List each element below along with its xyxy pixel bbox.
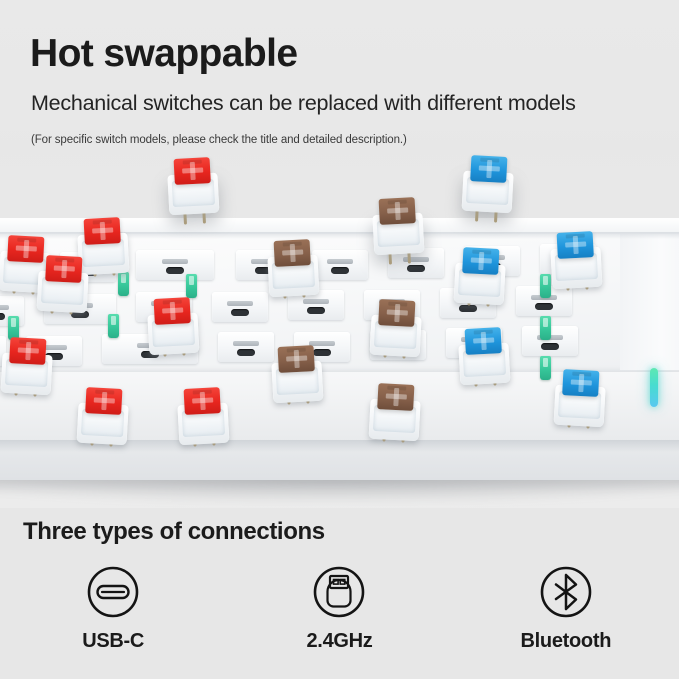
switch-stem <box>377 383 414 411</box>
connection-item-usb-c[interactable]: USB-C <box>0 566 226 651</box>
page-title: Hot swappable <box>30 34 297 73</box>
switch-stem-cross <box>54 266 75 272</box>
switch-stem-cross <box>182 167 203 173</box>
switch-stem-cross <box>471 258 492 264</box>
switch-socket <box>218 332 274 362</box>
key-switch-brown <box>372 197 425 256</box>
connections-section: Three types of connections USB-C <box>0 508 679 679</box>
page-subtitle: Mechanical switches can be replaced with… <box>31 93 576 115</box>
switch-stem-cross <box>571 380 592 386</box>
switch-stem-cross <box>162 307 183 313</box>
socket-bar-slot <box>327 259 353 264</box>
socket-led-slot <box>166 267 184 274</box>
connection-label: USB-C <box>82 631 144 651</box>
switch-stem <box>462 247 499 275</box>
connection-item-24ghz[interactable]: 2.4GHz <box>226 566 452 651</box>
switch-stem <box>184 387 221 415</box>
switch-stem-cross <box>565 241 586 247</box>
socket-led-slot <box>231 309 249 316</box>
key-switch-red <box>147 297 200 356</box>
switch-socket <box>212 292 268 322</box>
switch-stem <box>84 217 121 245</box>
switch-stem <box>174 157 211 185</box>
switch-stem-cross <box>473 337 494 343</box>
socket-bar-slot <box>303 299 329 304</box>
switch-stem-cross <box>18 348 39 354</box>
key-switch-brown <box>267 239 320 298</box>
switch-stem <box>470 155 507 183</box>
connection-item-bluetooth[interactable]: Bluetooth <box>453 566 679 651</box>
stabilizer-insert <box>186 274 197 298</box>
switch-stem-cross <box>386 394 407 400</box>
stabilizer-insert <box>540 316 551 340</box>
switch-stem <box>378 299 415 327</box>
key-switch-red <box>37 255 90 314</box>
switch-stem-cross <box>16 246 37 252</box>
connections-title: Three types of connections <box>23 520 325 544</box>
socket-bar-slot <box>162 259 188 264</box>
switch-stem-cross <box>286 355 307 361</box>
socket-led-slot <box>535 303 553 310</box>
key-switch-red <box>177 387 230 446</box>
header-text-block: Hot swappable Mechanical switches can be… <box>0 0 679 152</box>
key-switch-brown <box>271 345 324 404</box>
switch-socket <box>312 250 368 280</box>
usb-c-icon <box>87 566 139 618</box>
socket-led-slot <box>0 313 5 320</box>
product-photo <box>0 140 679 515</box>
socket-bar-slot <box>227 301 253 306</box>
switch-stem <box>379 197 416 225</box>
key-switch-blue <box>458 327 511 386</box>
switch-stem-cross <box>92 227 113 233</box>
switch-stem <box>9 337 46 365</box>
switch-stem <box>278 345 315 373</box>
socket-led-slot <box>407 265 425 272</box>
switch-socket <box>136 250 214 280</box>
stabilizer-insert <box>540 356 551 380</box>
switch-stem <box>154 297 191 325</box>
key-switch-brown <box>370 299 423 358</box>
socket-bar-slot <box>233 341 259 346</box>
connection-label: Bluetooth <box>521 631 612 651</box>
switch-stem <box>465 327 502 355</box>
usb-dongle-icon <box>313 566 365 618</box>
switch-stem <box>557 231 594 259</box>
switch-stem <box>85 387 122 415</box>
socket-led-slot <box>541 343 559 350</box>
disclaimer-note: (For specific switch models, please chec… <box>31 135 407 147</box>
switch-stem-cross <box>387 310 408 316</box>
connection-label: 2.4GHz <box>306 631 372 651</box>
switch-stem-cross <box>479 166 500 172</box>
switch-stem <box>562 369 599 397</box>
stabilizer-insert <box>108 314 119 338</box>
key-switch-red <box>167 157 220 216</box>
socket-led-slot <box>331 267 349 274</box>
socket-led-slot <box>307 307 325 314</box>
status-led-indicator <box>650 368 658 407</box>
socket-led-slot <box>237 349 255 356</box>
socket-led-slot <box>459 305 477 312</box>
switch-stem-cross <box>387 207 408 213</box>
keyboard-right-bezel <box>620 220 679 370</box>
key-switch-red <box>1 337 54 396</box>
connections-row: USB-C 2.4GHz Bluetooth <box>0 566 679 651</box>
stabilizer-insert <box>540 274 551 298</box>
bluetooth-icon <box>540 566 592 618</box>
key-switch-brown <box>369 383 422 442</box>
switch-stem <box>274 239 311 267</box>
switch-stem-cross <box>94 398 115 404</box>
key-switch-blue <box>550 231 603 290</box>
socket-bar-slot <box>0 305 9 310</box>
key-switch-blue <box>554 369 607 428</box>
switch-stem-cross <box>282 249 303 255</box>
key-switch-red <box>77 387 130 446</box>
key-switch-blue <box>454 247 507 306</box>
switch-stem <box>45 255 82 283</box>
product-infographic-page: Hot swappable Mechanical switches can be… <box>0 0 679 679</box>
stabilizer-insert <box>118 272 129 296</box>
switch-stem-cross <box>192 397 213 403</box>
key-switch-blue <box>462 155 515 214</box>
